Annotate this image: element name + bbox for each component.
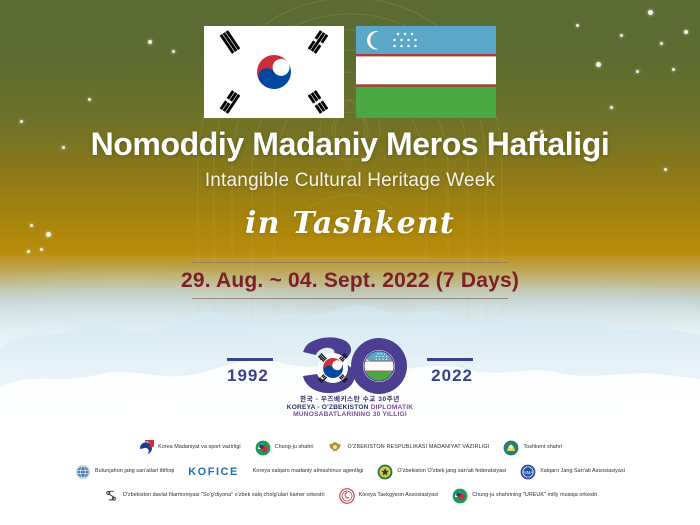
title-block: Nomoddiy Madaniy Meros Haftaligi Intangi… [0, 128, 700, 241]
emblem-caption-korean: 한국 - 우즈베키스탄 수교 30주년 [225, 396, 475, 404]
flag-pair [0, 26, 700, 118]
sponsor-label: Chung-ju shahri [275, 445, 314, 450]
sogdiana-philharmonic-icon [103, 488, 119, 504]
sponsor-label: Chung-ju shahrining "UREUK" milly musiqa… [472, 493, 597, 498]
event-date: 29. Aug. ~ 04. Sept. 2022 (7 Days) [0, 263, 700, 298]
sponsor-item: Butunjahon jang san'atlari ittifoqi [75, 464, 174, 480]
chungju-city-emblem-icon [255, 440, 271, 456]
sponsor-logo-bar: Korea Madaniyat va sport vazirligi Chung… [0, 436, 700, 519]
sponsor-label: Koreya xalqaro madaniy almashinuv agentl… [253, 469, 364, 474]
date-block: 29. Aug. ~ 04. Sept. 2022 (7 Days) [0, 262, 700, 299]
sponsor-item: O'zbekiston davlat filarmoniyasi "So'g'd… [103, 488, 325, 504]
sponsor-item: Korea Madaniyat va sport vazirligi [138, 440, 241, 456]
martial-arts-union-globe-icon [75, 464, 91, 480]
emblem-caption-line2: MUNOSABATLARINING 30 YILLIGI [225, 411, 475, 419]
sponsor-label: Korea Madaniyat va sport vazirligi [158, 445, 241, 450]
emblem-caption-line1: KOREYA - O'ZBEKISTON DIPLOMATIK [225, 404, 475, 412]
sponsor-label: Koreya Taekgyeon Assosiasiyasi [359, 493, 439, 498]
sponsor-item: Koreya xalqaro madaniy almashinuv agentl… [253, 469, 364, 474]
year-left: 1992 [227, 366, 269, 386]
sponsor-item: KOFICE [188, 466, 239, 478]
sponsor-item: Koreya Taekgyeon Assosiasiyasi [339, 488, 439, 504]
tashkent-city-emblem-icon [503, 440, 519, 456]
city-line: in Tashkent [0, 206, 700, 241]
sponsor-row-3: O'zbekiston davlat filarmoniyasi "So'g'd… [0, 484, 700, 508]
poster-canvas: Nomoddiy Madaniy Meros Haftaligi Intangi… [0, 0, 700, 525]
year-right: 2022 [431, 366, 473, 386]
ureuk-orchestra-icon [452, 488, 468, 504]
international-martial-arts-association-icon: AIMA [520, 464, 536, 480]
sponsor-label: Butunjahon jang san'atlari ittifoqi [95, 469, 174, 474]
uzbek-martial-arts-federation-icon [377, 464, 393, 480]
sponsor-row-2: Butunjahon jang san'atlari ittifoqi KOFI… [0, 460, 700, 484]
emblem-caption: 한국 - 우즈베키스탄 수교 30주년 KOREYA - O'ZBEKISTON… [225, 396, 475, 419]
date-rule-bottom [192, 298, 508, 299]
page-subtitle: Intangible Cultural Heritage Week [0, 170, 700, 192]
emblem-caption-line1-b: DIPLOMATIK [371, 404, 414, 411]
sponsor-item: O'ZBEKISTON RESPUBLIKASI MADANIYAT VAZIR… [327, 440, 489, 456]
anniversary-emblem: 1992 2022 [0, 338, 700, 428]
sponsor-item: Chung-ju shahrining "UREUK" milly musiqa… [452, 488, 597, 504]
sponsor-item: O'zbekiston O'zbek jang san'ati federats… [377, 464, 506, 480]
sponsor-item: Toshkent shahri [503, 440, 562, 456]
page-title: Nomoddiy Madaniy Meros Haftaligi [0, 128, 700, 162]
emblem-caption-line1-a: KOREYA - O'ZBEKISTON [287, 404, 371, 411]
year-bar-right [427, 358, 473, 361]
date-rule-top [192, 262, 508, 263]
sponsor-label: O'zbekiston davlat filarmoniyasi "So'g'd… [123, 493, 325, 498]
uzbekistan-ministry-emblem-icon [327, 440, 343, 456]
south-korea-flag [204, 26, 344, 118]
sponsor-label: Toshkent shahri [523, 445, 562, 450]
svg-text:AIMA: AIMA [523, 470, 534, 475]
sponsor-row-1: Korea Madaniyat va sport vazirligi Chung… [0, 436, 700, 460]
thirty-anniversary-logo-icon [287, 336, 413, 398]
sponsor-label: O'zbekiston O'zbek jang san'ati federats… [397, 469, 506, 474]
sponsor-label: O'ZBEKISTON RESPUBLIKASI MADANIYAT VAZIR… [347, 445, 489, 450]
sponsor-label: Xalqaro Jang San'ati Assosiasiyasi [540, 469, 625, 474]
kofice-wordmark-icon: KOFICE [188, 466, 239, 478]
sponsor-item: AIMA Xalqaro Jang San'ati Assosiasiyasi [520, 464, 625, 480]
uzbekistan-flag [356, 26, 496, 118]
sponsor-item: Chung-ju shahri [255, 440, 314, 456]
year-bar-left [227, 358, 273, 361]
korea-government-emblem-icon [138, 440, 154, 456]
korea-taekgyeon-association-icon [339, 488, 355, 504]
